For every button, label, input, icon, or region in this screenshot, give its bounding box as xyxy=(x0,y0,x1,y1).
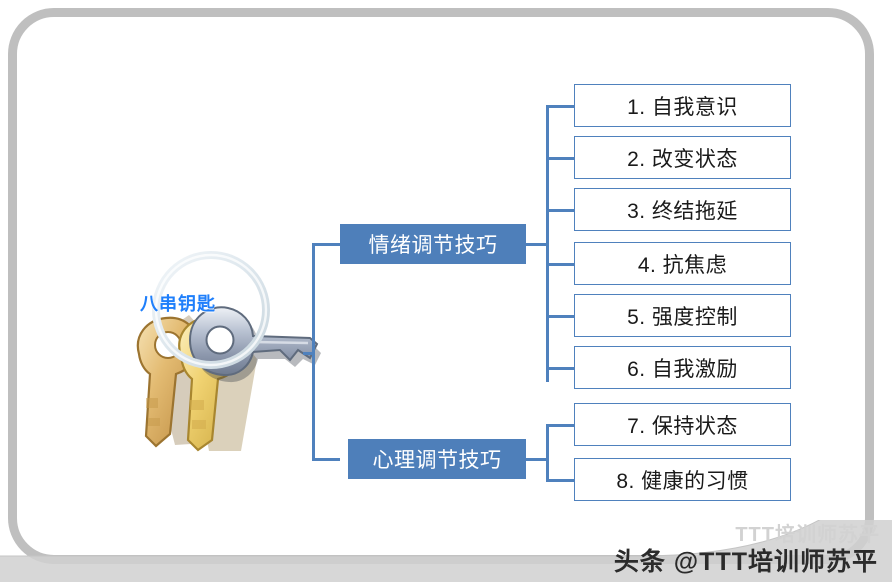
leaf-node-label: 3. 终结拖延 xyxy=(627,195,738,225)
connector-branch-1-spine xyxy=(546,106,549,382)
leaf-node-label: 7. 保持状态 xyxy=(627,410,738,440)
connector-leaf-4 xyxy=(546,263,575,266)
keyring-icon xyxy=(84,248,322,452)
branch-node-emotional-regulation[interactable]: 情绪调节技巧 xyxy=(340,224,526,264)
leaf-node-2[interactable]: 2. 改变状态 xyxy=(574,136,791,179)
leaf-node-label: 8. 健康的习惯 xyxy=(616,465,748,495)
connector-trunk-to-branch-2 xyxy=(312,458,340,461)
connector-leaf-5 xyxy=(546,315,575,318)
connector-leaf-1 xyxy=(546,105,575,108)
connector-trunk xyxy=(312,243,315,461)
leaf-node-3[interactable]: 3. 终结拖延 xyxy=(574,188,791,231)
leaf-node-6[interactable]: 6. 自我激励 xyxy=(574,346,791,389)
leaf-node-label: 5. 强度控制 xyxy=(627,301,738,331)
connector-trunk-to-branch-1 xyxy=(312,243,340,246)
root-node-label: 八串钥匙 xyxy=(140,290,216,316)
connector-leaf-3 xyxy=(546,209,575,212)
leaf-node-label: 2. 改变状态 xyxy=(627,143,738,173)
connector-branch-2-spine xyxy=(546,424,549,482)
watermark-text: 头条 @TTT培训师苏平 xyxy=(614,542,878,578)
connector-leaf-2 xyxy=(546,157,575,160)
leaf-node-5[interactable]: 5. 强度控制 xyxy=(574,294,791,337)
connector-leaf-6 xyxy=(546,367,575,370)
branch-node-label: 心理调节技巧 xyxy=(373,444,502,474)
leaf-node-label: 6. 自我激励 xyxy=(627,353,738,383)
diagram-canvas: 八串钥匙 情绪调节技巧 心理调节技巧 1. 自我意识 2. 改变状态 3. 终结… xyxy=(0,0,892,582)
leaf-node-label: 4. 抗焦虑 xyxy=(638,249,727,279)
leaf-node-1[interactable]: 1. 自我意识 xyxy=(574,84,791,127)
leaf-node-7[interactable]: 7. 保持状态 xyxy=(574,403,791,446)
branch-node-psychological-regulation[interactable]: 心理调节技巧 xyxy=(348,439,526,479)
leaf-node-4[interactable]: 4. 抗焦虑 xyxy=(574,242,791,285)
connector-leaf-8 xyxy=(546,479,575,482)
connector-leaf-7 xyxy=(546,424,575,427)
branch-node-label: 情绪调节技巧 xyxy=(369,229,498,259)
leaf-node-8[interactable]: 8. 健康的习惯 xyxy=(574,458,791,501)
leaf-node-label: 1. 自我意识 xyxy=(627,91,738,121)
